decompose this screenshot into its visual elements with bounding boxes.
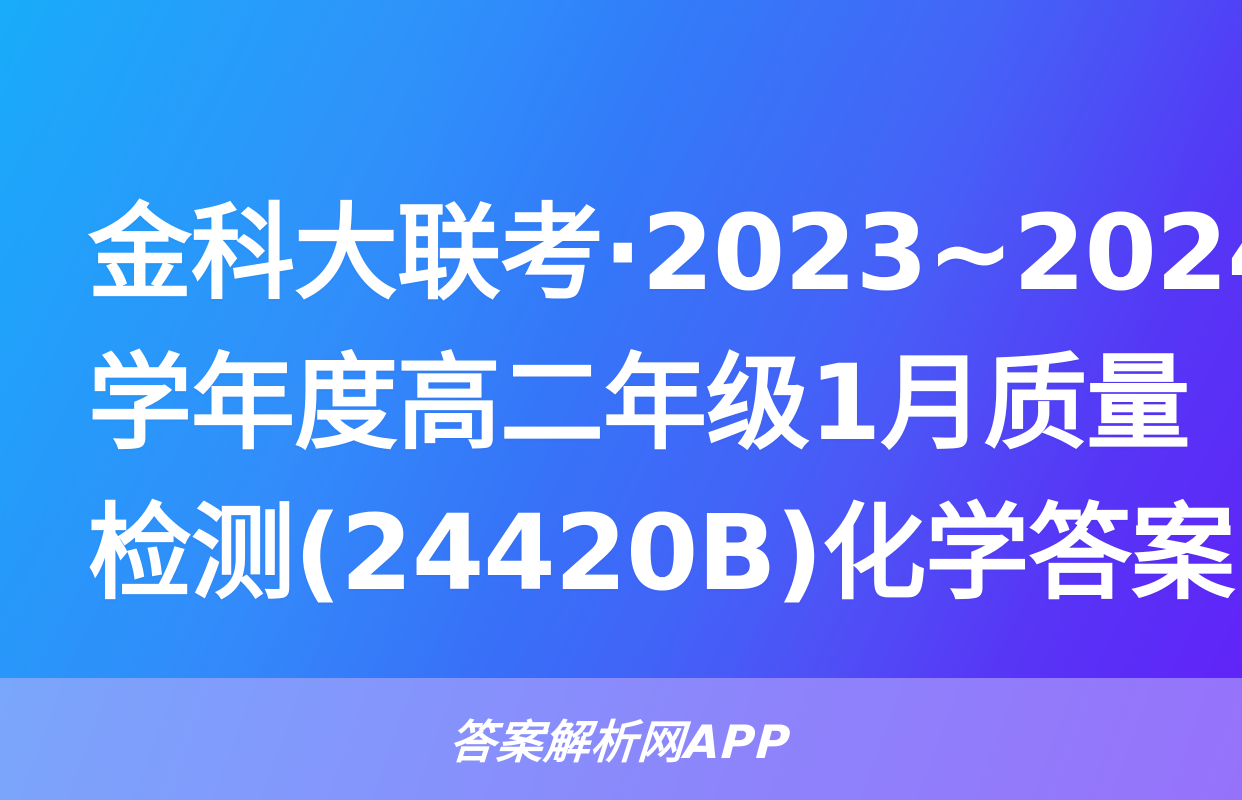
title-line-2: 学年度高二年级1月质量 — [88, 328, 1158, 478]
watermark-band: 答案解析网APP — [0, 678, 1242, 800]
title-line-3: 检测(24420B)化学答案 — [88, 478, 1158, 628]
watermark-text: 答案解析网APP — [448, 706, 794, 772]
title-line-1: 金科大联考·2023~2024 — [88, 178, 1158, 328]
page-title: 金科大联考·2023~2024 学年度高二年级1月质量 检测(24420B)化学… — [88, 178, 1158, 628]
answer-poster: 金科大联考·2023~2024 学年度高二年级1月质量 检测(24420B)化学… — [0, 0, 1242, 800]
